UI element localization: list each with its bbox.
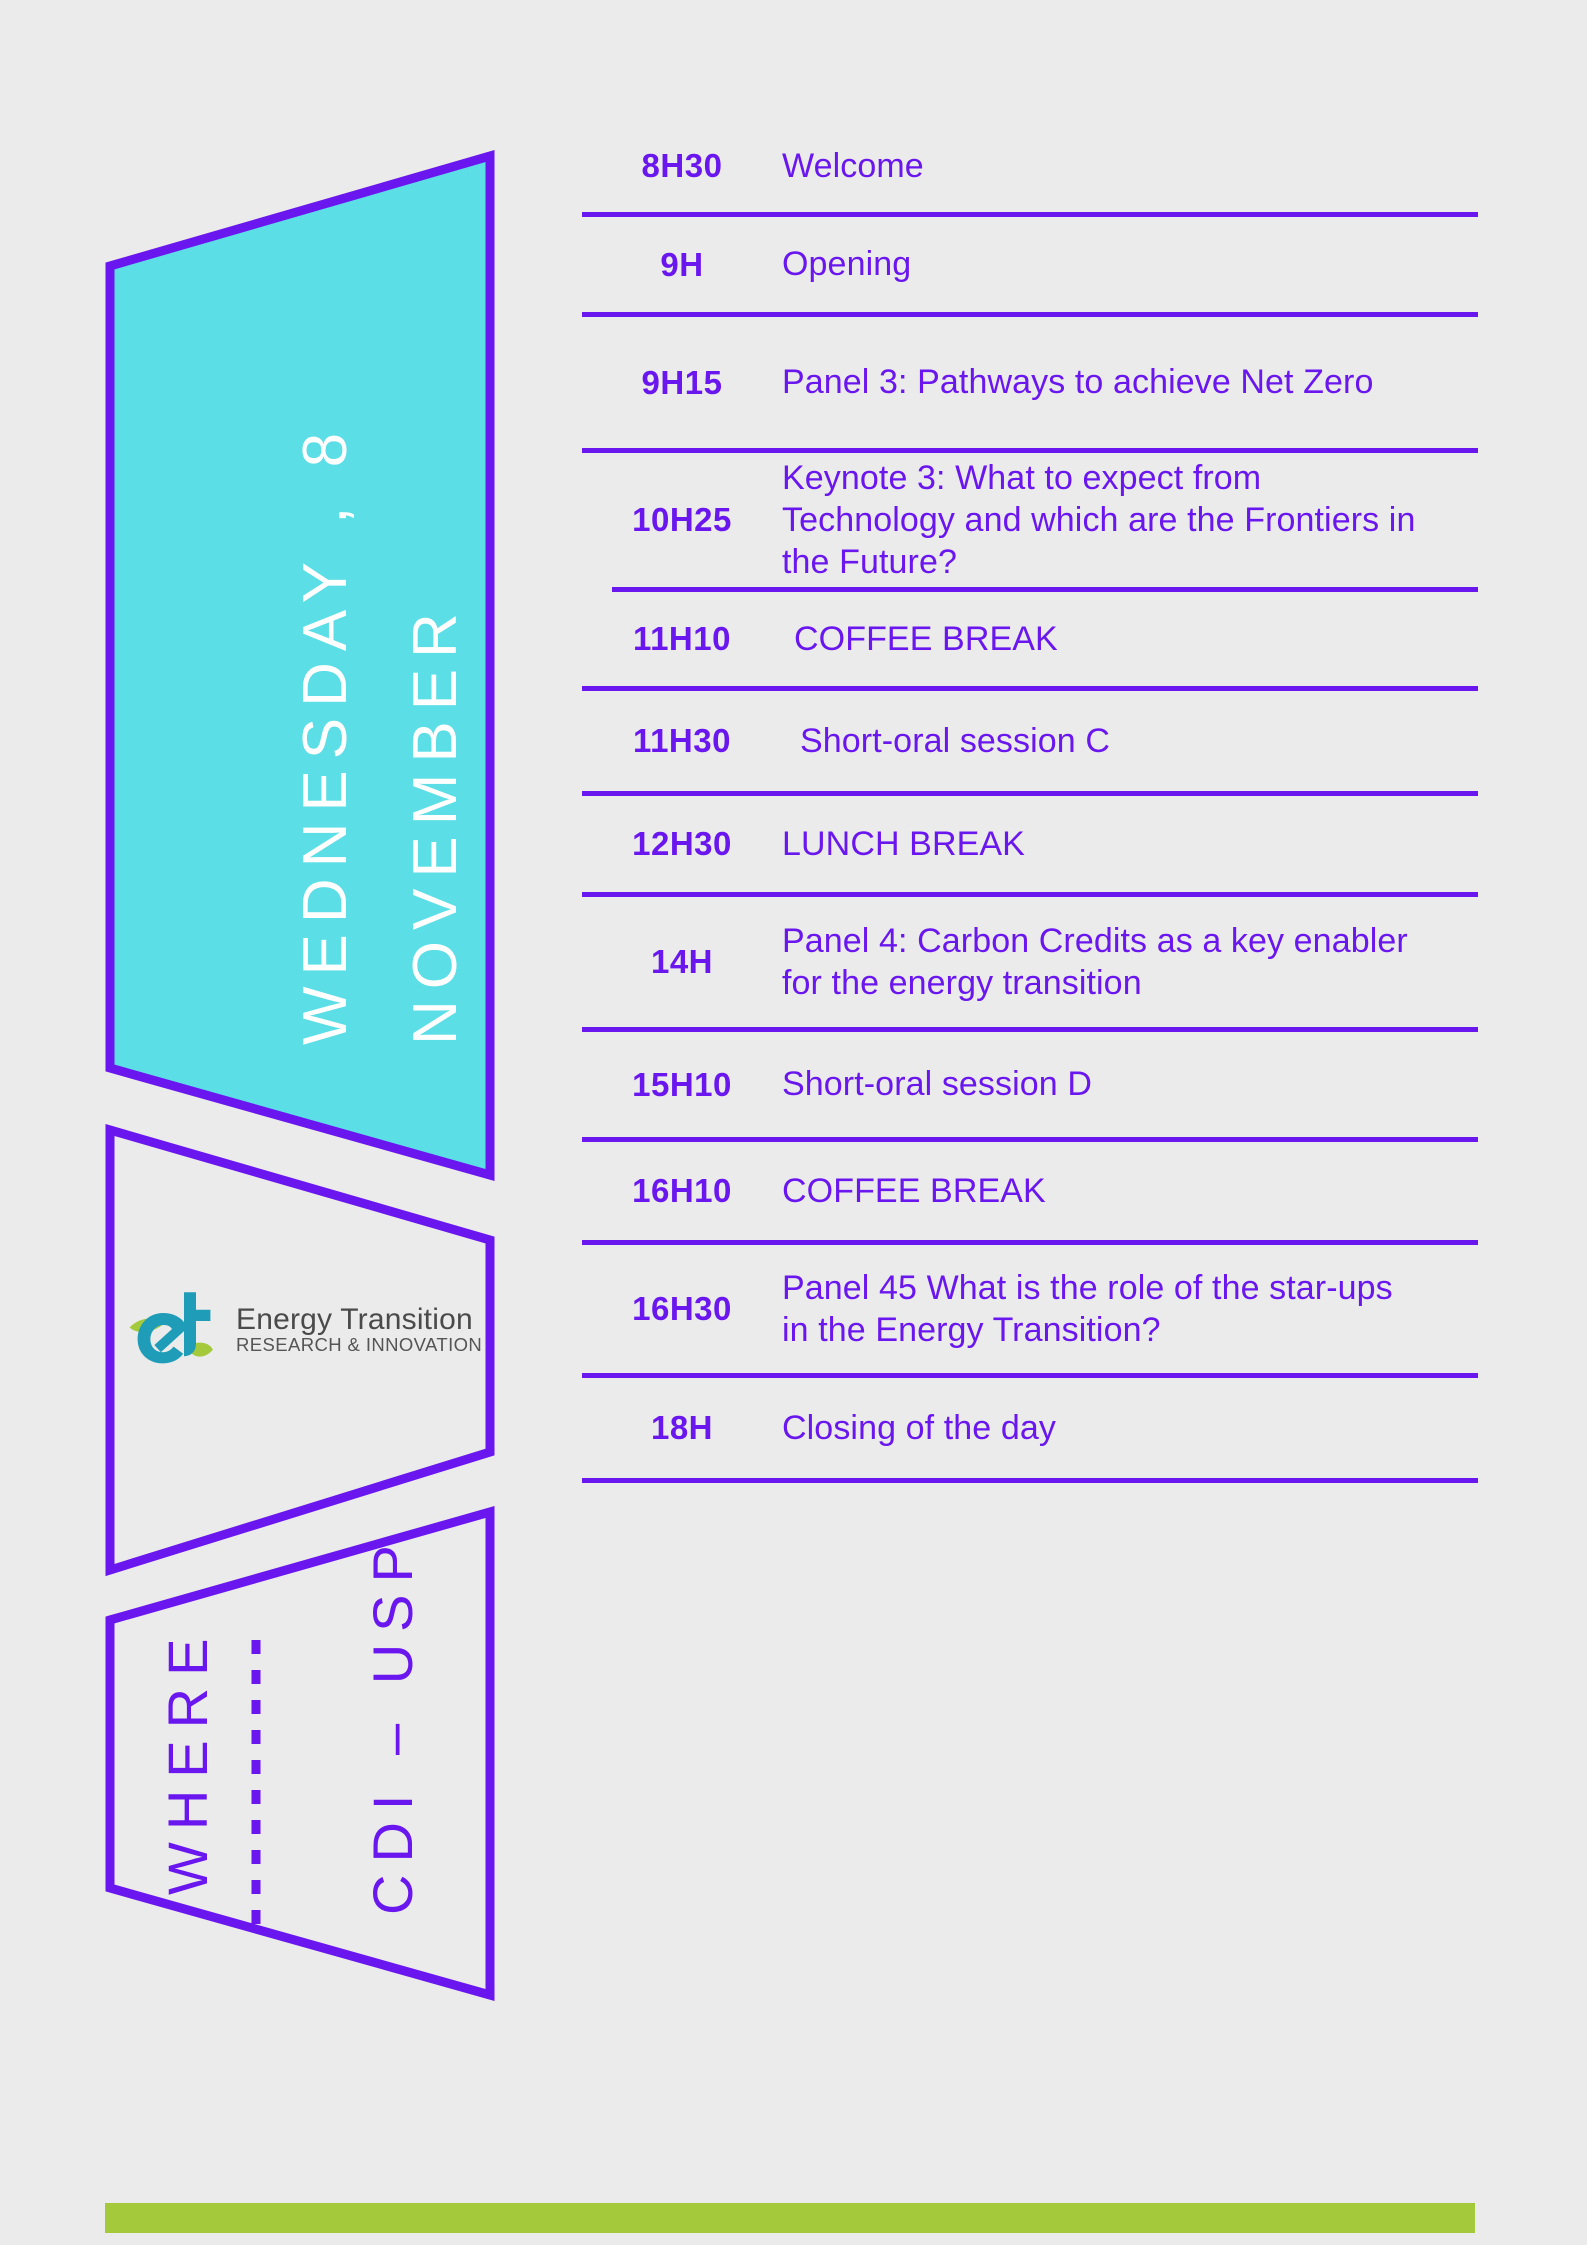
schedule-row[interactable]: 11H10 COFFEE BREAK	[582, 592, 1482, 686]
row-title: Opening	[782, 243, 1482, 285]
row-title: LUNCH BREAK	[782, 823, 1482, 865]
schedule-list: 8H30 Welcome 9H Opening 9H15 Panel 3: Pa…	[582, 120, 1482, 1483]
row-title: COFFEE BREAK	[782, 618, 1482, 660]
row-title: Short-oral session C	[782, 720, 1482, 762]
logo-text-block: Energy Transition RESEARCH & INNOVATION	[236, 1304, 482, 1354]
schedule-row[interactable]: 18H Closing of the day	[582, 1378, 1482, 1478]
row-title: COFFEE BREAK	[782, 1170, 1482, 1212]
row-title: Short-oral session D	[782, 1063, 1482, 1105]
row-time: 18H	[582, 1409, 782, 1447]
row-title: Panel 3: Pathways to achieve Net Zero	[782, 361, 1382, 403]
row-time: 16H10	[582, 1172, 782, 1210]
row-title: Welcome	[782, 145, 1482, 187]
logo-title: Energy Transition	[236, 1304, 482, 1335]
schedule-row[interactable]: 15H10 Short-oral session D	[582, 1032, 1482, 1137]
row-title: Closing of the day	[782, 1407, 1482, 1449]
row-time: 9H	[582, 246, 782, 284]
logo-subtitle: RESEARCH & INNOVATION	[236, 1335, 482, 1354]
schedule-row[interactable]: 12H30 LUNCH BREAK	[582, 796, 1482, 892]
et-monogram-icon	[128, 1288, 224, 1370]
row-time: 11H10	[582, 620, 782, 658]
left-trapezoid-group	[0, 0, 560, 2245]
bottom-accent-bar	[105, 2203, 1475, 2233]
row-time: 16H30	[582, 1290, 782, 1328]
row-title: Panel 45 What is the role of the star-up…	[782, 1267, 1427, 1351]
schedule-row[interactable]: 16H10 COFFEE BREAK	[582, 1142, 1482, 1240]
where-trapezoid-shape	[110, 1512, 490, 1995]
schedule-row[interactable]: 16H30 Panel 45 What is the role of the s…	[582, 1245, 1482, 1373]
row-time: 12H30	[582, 825, 782, 863]
row-divider	[582, 1478, 1478, 1483]
schedule-row[interactable]: 8H30 Welcome	[582, 120, 1482, 212]
schedule-row[interactable]: 14H Panel 4: Carbon Credits as a key ena…	[582, 897, 1482, 1027]
row-time: 9H15	[582, 364, 782, 402]
energy-transition-logo: Energy Transition RESEARCH & INNOVATION	[128, 1288, 482, 1370]
row-title: Keynote 3: What to expect from Technolog…	[782, 457, 1432, 583]
row-title: Panel 4: Carbon Credits as a key enabler…	[782, 920, 1432, 1004]
date-trapezoid-shape	[110, 156, 490, 1175]
row-time: 15H10	[582, 1066, 782, 1104]
row-time: 11H30	[582, 722, 782, 760]
row-time: 14H	[582, 943, 782, 981]
schedule-row[interactable]: 10H25 Keynote 3: What to expect from Tec…	[582, 453, 1482, 587]
schedule-row[interactable]: 9H Opening	[582, 217, 1482, 312]
schedule-row[interactable]: 9H15 Panel 3: Pathways to achieve Net Ze…	[582, 317, 1482, 448]
schedule-row[interactable]: 11H30 Short-oral session C	[582, 691, 1482, 791]
row-time: 10H25	[582, 501, 782, 539]
row-time: 8H30	[582, 147, 782, 185]
